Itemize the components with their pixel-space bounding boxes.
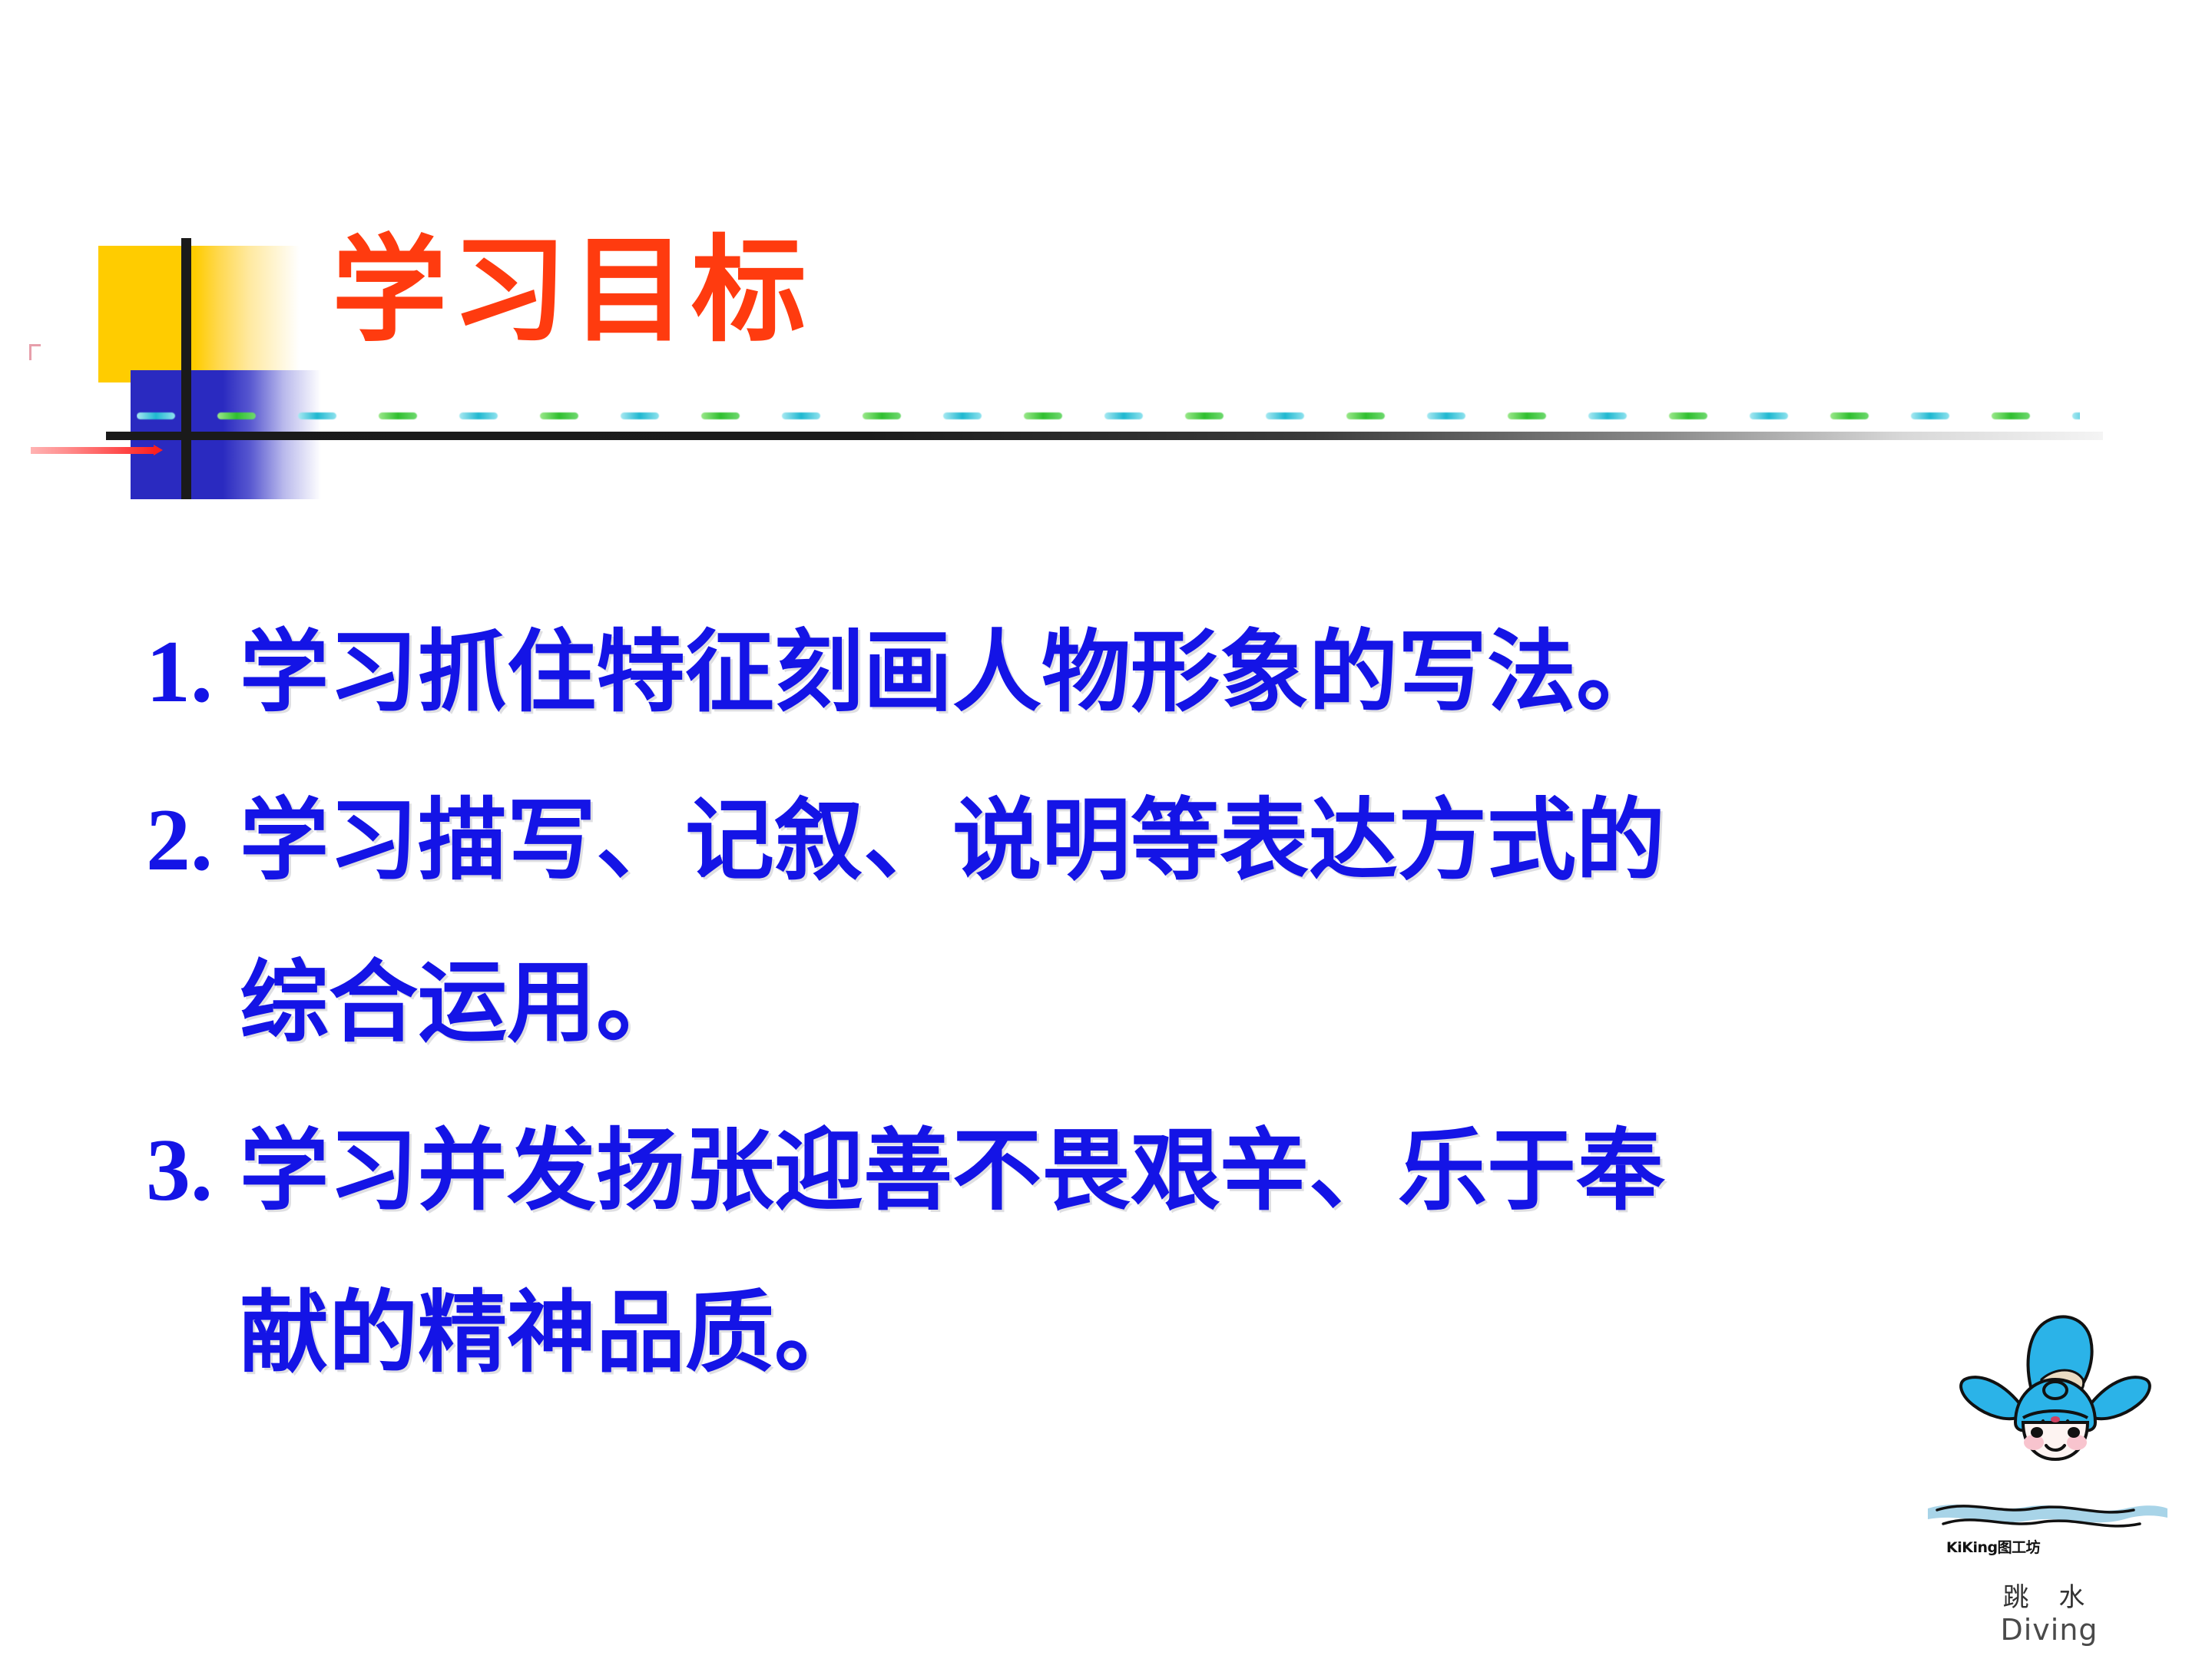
list-item-number: 1. xyxy=(146,591,240,753)
list-item-text: 学习描写、记叙、说明等表达方式的 综合运用。 xyxy=(240,760,2051,1084)
list-item-line: 综合运用。 xyxy=(240,922,2051,1084)
dashed-accent-line xyxy=(137,410,2080,421)
list-item-text: 学习并发扬张迎善不畏艰辛、乐于奉 献的精神品质。 xyxy=(240,1090,2051,1414)
logo-caption-en: Diving xyxy=(1919,1613,2180,1647)
list-item-line: 献的精神品质。 xyxy=(240,1252,2051,1414)
corner-mark-icon xyxy=(29,344,41,360)
watermark-text: KiKing图工坊 xyxy=(1946,1536,2040,1557)
diving-logo: KiKing图工坊 跳 水 Diving xyxy=(1919,1306,2210,1655)
vertical-rule xyxy=(181,238,191,499)
objectives-list: 1. 学习抓住特征刻画人物形象的写法。 2. 学习描写、记叙、说明等表达方式的 … xyxy=(146,591,2051,1421)
list-item: 1. 学习抓住特征刻画人物形象的写法。 xyxy=(146,591,2051,753)
slide-canvas: 学习目标 1. 学习抓住特征刻画人物形象的写法。 2. 学习描写、记叙、说明等表… xyxy=(0,0,2212,1659)
water-waves-icon xyxy=(1925,1495,2171,1535)
red-accent-rule xyxy=(31,447,155,454)
list-item-text: 学习抓住特征刻画人物形象的写法。 xyxy=(240,591,2051,753)
list-item-number: 2. xyxy=(146,760,240,922)
page-title: 学习目标 xyxy=(332,230,811,352)
list-item-line: 学习并发扬张迎善不畏艰辛、乐于奉 xyxy=(240,1090,2051,1252)
horizontal-rule xyxy=(106,432,2103,440)
list-item-line: 学习描写、记叙、说明等表达方式的 xyxy=(240,760,2051,922)
list-item: 3. 学习并发扬张迎善不畏艰辛、乐于奉 献的精神品质。 xyxy=(146,1090,2051,1414)
logo-caption-cn: 跳 水 xyxy=(1919,1576,2180,1614)
diver-mascot-icon xyxy=(1940,1313,2171,1482)
yellow-block-gradient xyxy=(195,246,300,382)
list-item: 2. 学习描写、记叙、说明等表达方式的 综合运用。 xyxy=(146,760,2051,1084)
list-item-number: 3. xyxy=(146,1090,240,1252)
list-item-line: 学习抓住特征刻画人物形象的写法。 xyxy=(240,591,2051,753)
